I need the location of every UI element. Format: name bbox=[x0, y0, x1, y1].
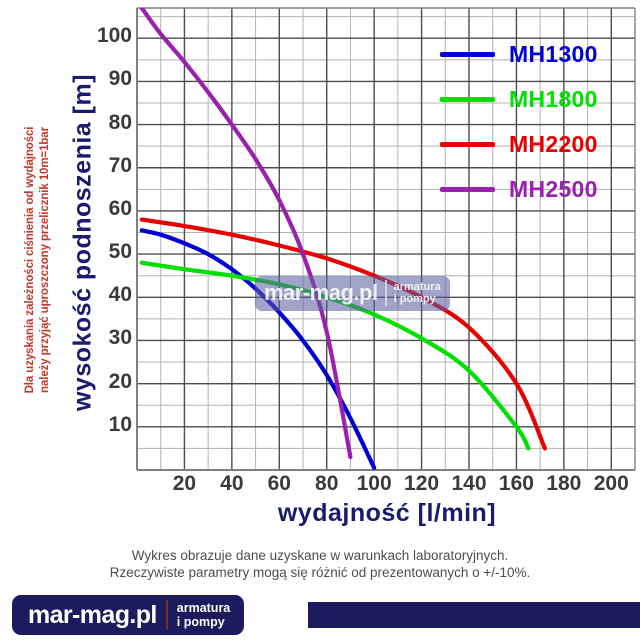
y-tick-label: 80 bbox=[78, 111, 132, 135]
y-tick-label: 70 bbox=[78, 154, 132, 178]
footer-logo-tagline: armatura i pompy bbox=[177, 601, 231, 629]
y-axis-ticks: 102030405060708090100 bbox=[78, 0, 132, 480]
legend-label: MH2200 bbox=[509, 131, 598, 158]
legend-label: MH1800 bbox=[509, 86, 598, 113]
chart-page: Dla uzyskania zależności ciśnienia od wy… bbox=[0, 0, 640, 640]
footer-logo-divider bbox=[166, 600, 168, 630]
y-tick-label: 40 bbox=[78, 283, 132, 307]
footer: mar-mag.pl armatura i pompy bbox=[0, 592, 640, 640]
watermark-divider bbox=[385, 280, 387, 306]
legend-swatch bbox=[440, 52, 495, 57]
caption-line-1: Wykres obrazuje dane uzyskane w warunkac… bbox=[0, 547, 640, 564]
y-tick-label: 100 bbox=[78, 24, 132, 48]
x-axis-title: wydajność [l/min] bbox=[137, 499, 637, 528]
legend-item-mh1800[interactable]: MH1800 bbox=[440, 77, 630, 122]
y-tick-label: 60 bbox=[78, 197, 132, 221]
legend-item-mh2200[interactable]: MH2200 bbox=[440, 122, 630, 167]
caption: Wykres obrazuje dane uzyskane w warunkac… bbox=[0, 547, 640, 581]
y-tick-label: 20 bbox=[78, 370, 132, 394]
watermark-brand: mar-mag.pl bbox=[264, 280, 378, 306]
footer-logo-tagline-line1: armatura bbox=[177, 601, 231, 615]
legend-swatch bbox=[440, 97, 495, 102]
y-tick-label: 50 bbox=[78, 240, 132, 264]
y-tick-label: 90 bbox=[78, 67, 132, 91]
y-tick-label: 30 bbox=[78, 326, 132, 350]
x-tick-label: 200 bbox=[581, 472, 640, 496]
footer-logo-brand: mar-mag.pl bbox=[28, 601, 157, 630]
caption-line-2: Rzeczywiste parametry mogą się różnić od… bbox=[0, 564, 640, 581]
x-axis-ticks: 20406080100120140160180200 bbox=[0, 472, 640, 502]
watermark-tagline-line2: i pompy bbox=[394, 293, 436, 305]
watermark: mar-mag.pl armatura i pompy bbox=[255, 276, 450, 311]
legend-label: MH1300 bbox=[509, 41, 598, 68]
watermark-tagline-line1: armatura bbox=[394, 281, 441, 293]
footer-logo-tagline-line2: i pompy bbox=[177, 615, 225, 629]
footer-bar bbox=[308, 602, 640, 628]
legend-item-mh2500[interactable]: MH2500 bbox=[440, 167, 630, 212]
legend-label: MH2500 bbox=[509, 176, 598, 203]
legend-swatch bbox=[440, 142, 495, 147]
legend-swatch bbox=[440, 187, 495, 192]
watermark-tagline: armatura i pompy bbox=[394, 281, 441, 305]
legend: MH1300MH1800MH2200MH2500 bbox=[440, 32, 630, 212]
y-tick-label: 10 bbox=[78, 413, 132, 437]
legend-item-mh1300[interactable]: MH1300 bbox=[440, 32, 630, 77]
footer-logo[interactable]: mar-mag.pl armatura i pompy bbox=[12, 595, 244, 635]
